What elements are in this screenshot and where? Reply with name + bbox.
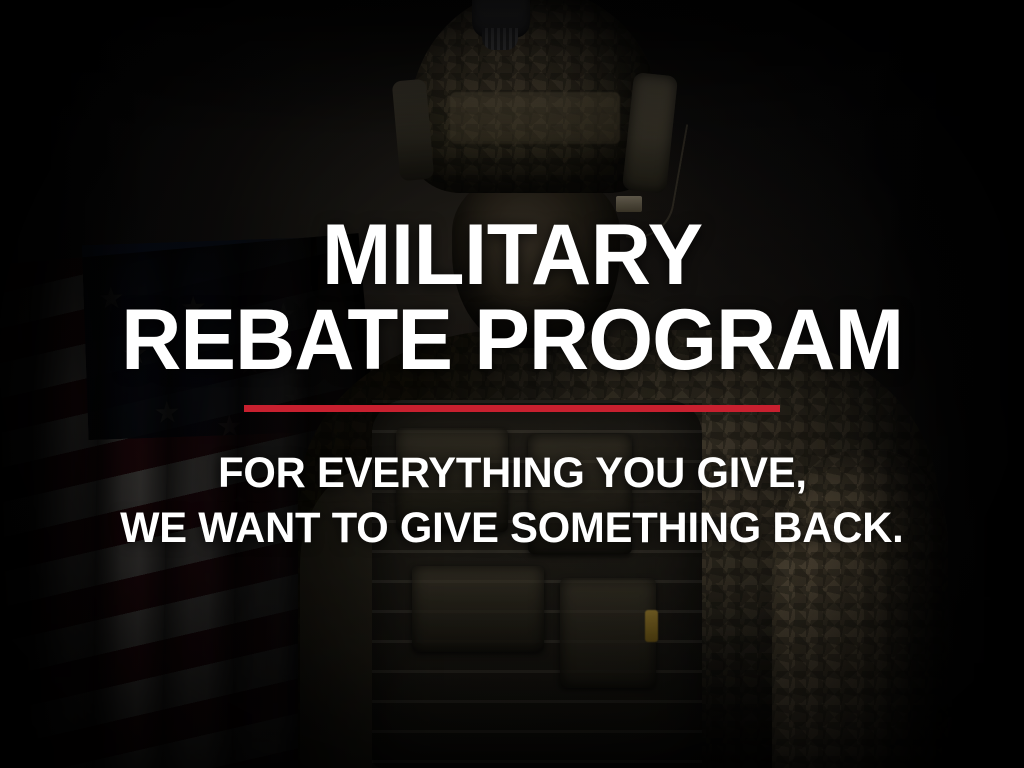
subheadline-line-2: WE WANT TO GIVE SOMETHING BACK. [120, 503, 903, 554]
poster-content: MILITARY REBATE PROGRAM FOR EVERYTHING Y… [0, 0, 1024, 768]
subheadline-line-1: FOR EVERYTHING YOU GIVE, [218, 448, 807, 499]
military-rebate-poster: ★ ★ ★ ★ ★ ★ ★ ★ [0, 0, 1024, 768]
headline-line-2: REBATE PROGRAM [121, 299, 903, 382]
headline-line-1: MILITARY [322, 214, 703, 297]
red-divider-rule [244, 405, 780, 412]
